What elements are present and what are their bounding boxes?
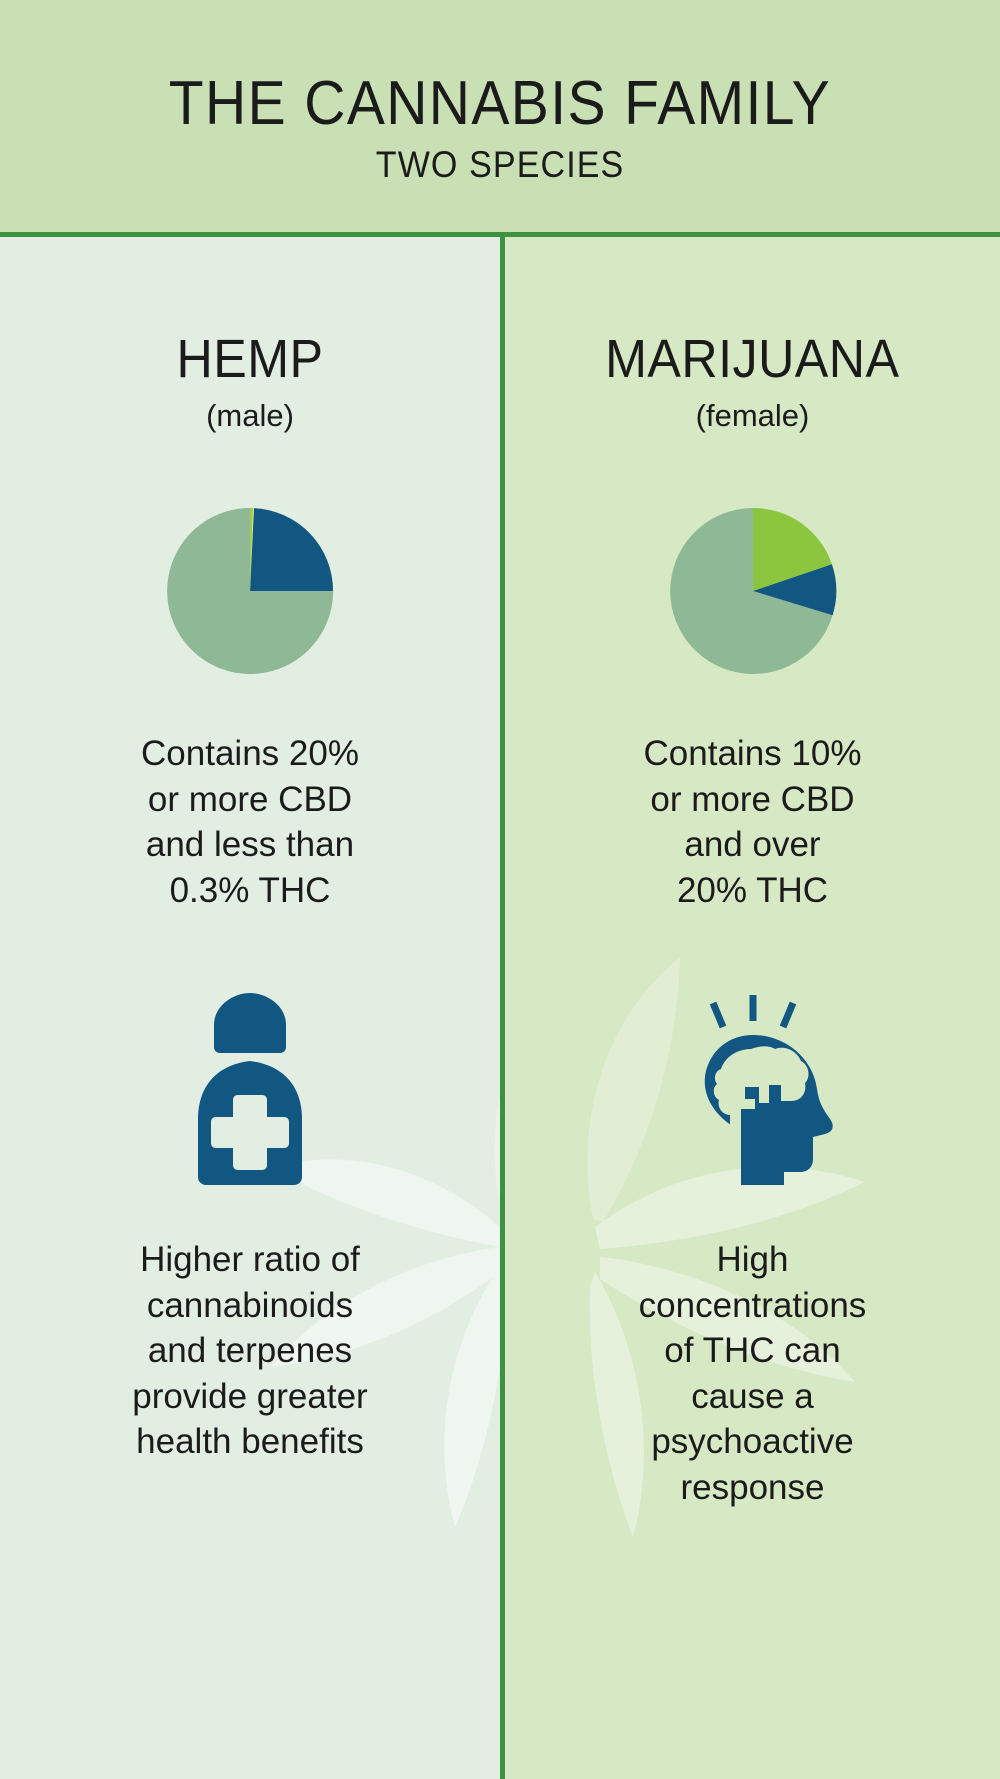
- hemp-stat-text: Contains 20% or more CBD and less than 0…: [141, 731, 359, 913]
- species-title-hemp: HEMP: [177, 332, 324, 386]
- head-brain-icon-svg: [663, 991, 843, 1187]
- species-sex-marijuana: (female): [696, 400, 810, 431]
- medicine-bottle-icon: [176, 989, 324, 1189]
- medicine-bottle-icon-svg: [176, 991, 324, 1187]
- marijuana-stat-text: Contains 10% or more CBD and over 20% TH…: [644, 731, 862, 913]
- page-title: THE CANNABIS FAMILY: [169, 72, 831, 135]
- column-marijuana: MARIJUANA (female) Contains 10% or more …: [500, 237, 1000, 1779]
- marijuana-content: MARIJUANA (female) Contains 10% or more …: [505, 237, 1000, 1779]
- marijuana-composition-pie: [669, 507, 837, 675]
- hemp-benefit-text: Higher ratio of cannabinoids and terpene…: [132, 1237, 367, 1465]
- page-subtitle: TWO SPECIES: [376, 144, 625, 186]
- hemp-composition-pie: [166, 507, 334, 675]
- species-comparison-columns: HEMP (male) Contains 20% or more CBD and…: [0, 237, 1000, 1779]
- cannabis-family-infographic: THE CANNABIS FAMILY TWO SPECIES HEMP (ma…: [0, 0, 1000, 1779]
- pie-slice-cbd: [250, 508, 333, 591]
- hemp-content: HEMP (male) Contains 20% or more CBD and…: [0, 237, 500, 1779]
- marijuana-benefit-text: High concentrations of THC can cause a p…: [639, 1237, 867, 1510]
- header-banner: THE CANNABIS FAMILY TWO SPECIES: [0, 0, 1000, 232]
- column-hemp: HEMP (male) Contains 20% or more CBD and…: [0, 237, 500, 1779]
- species-title-marijuana: MARIJUANA: [605, 332, 899, 386]
- hemp-pie-svg: [166, 507, 334, 675]
- marijuana-pie-svg: [669, 507, 837, 675]
- head-brain-icon: [663, 989, 843, 1189]
- species-sex-hemp: (male): [206, 400, 294, 431]
